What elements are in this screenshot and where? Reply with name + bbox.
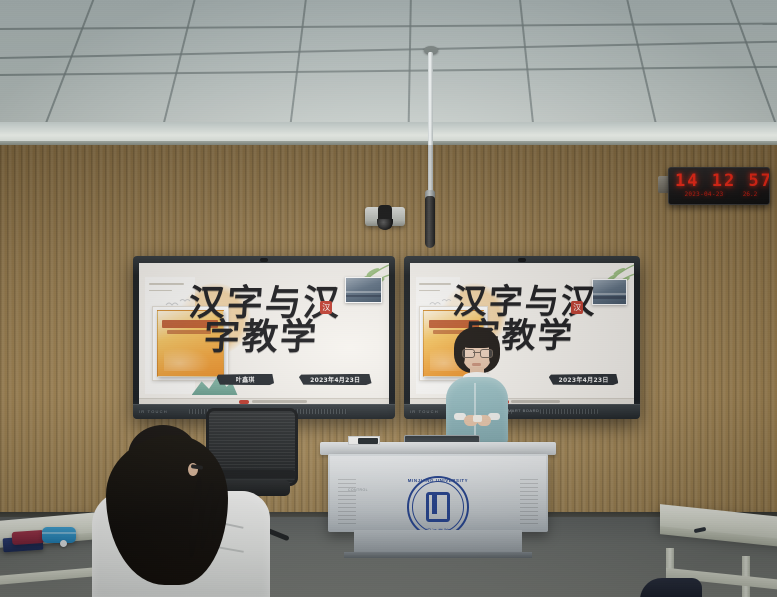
left-display-brand: IR TOUCH: [139, 409, 168, 414]
lectern-device: [358, 438, 378, 444]
classroom-photo: 14 12 57 2023-04-23 26.2: [0, 0, 777, 597]
red-pencil-case[interactable]: [12, 530, 45, 545]
blue-pencil-case[interactable]: [42, 527, 76, 543]
bag-foreground: [640, 578, 702, 597]
display-webcam-icon: [518, 258, 526, 262]
left-interactive-display[interactable]: 汉字与汉 字教学 汉 叶鑫琪 2023年4月23日 IR TOUCH SMART…: [133, 256, 395, 419]
lectern[interactable]: CONTROL MINJIANG UNIVERSITY 闽江学院: [320, 436, 556, 556]
lectern-panel-note: CONTROL: [348, 488, 368, 492]
lectern-foot: [344, 552, 532, 558]
presenter: [438, 327, 516, 445]
presenter-mouth: [472, 363, 481, 366]
slide-date-label: 2023年4月23日: [299, 374, 372, 385]
university-logo-en: MINJIANG UNIVERSITY: [407, 478, 469, 483]
slide-presenter-label: 叶鑫琪: [217, 374, 275, 385]
wall-digital-clock: 14 12 57 2023-04-23 26.2: [668, 167, 770, 205]
slide-seal: 汉: [571, 301, 583, 314]
slide-title-line2: 字教学: [202, 308, 320, 360]
pencil-case-charm: [60, 540, 67, 547]
left-slide: 汉字与汉 字教学 汉 叶鑫琪 2023年4月23日: [139, 263, 389, 405]
hanging-microphone-icon: [425, 196, 435, 248]
clock-temperature: 26.2: [735, 191, 765, 198]
university-logo-mark-icon: [426, 492, 450, 522]
wall-camera-icon: [365, 205, 405, 230]
student-foreground: [92, 425, 270, 597]
display-webcam-icon: [260, 258, 268, 262]
lectern-vent-right: [520, 476, 538, 524]
university-logo: MINJIANG UNIVERSITY 闽江学院: [407, 476, 469, 538]
glasses-left-lens-icon: [462, 349, 475, 358]
presenter-held-object: [473, 415, 482, 422]
right-display-brand: IR TOUCH: [410, 409, 439, 414]
glasses-bridge-icon: [473, 352, 480, 353]
clock-date: 2023-04-23: [673, 191, 735, 198]
clock-time: 14 12 57: [675, 171, 765, 191]
lectern-vent-left: [338, 476, 356, 524]
slide-date-label: 2023年4月23日: [549, 374, 618, 385]
slide-thumbnail-photo: [345, 277, 382, 303]
slide-seal: 汉: [320, 301, 332, 314]
left-display-screen[interactable]: 汉字与汉 字教学 汉 叶鑫琪 2023年4月23日: [139, 263, 389, 405]
microphone-pole: [428, 52, 433, 204]
glasses-right-lens-icon: [480, 349, 493, 358]
presenter-shirt-placket: [474, 383, 476, 439]
